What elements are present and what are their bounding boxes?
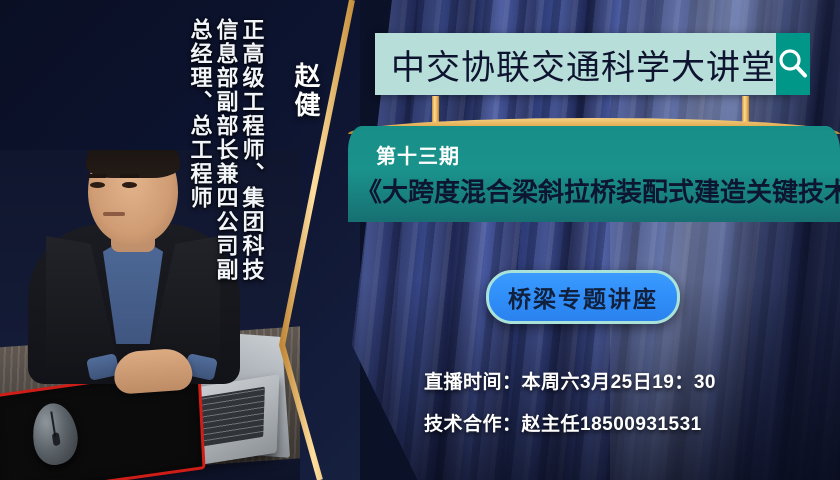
- credential-line-2: 信息部副部长兼四公司副: [214, 18, 236, 282]
- eye-left: [90, 182, 105, 188]
- topic-title: 《大跨度混合梁斜拉桥装配式建造关键技术》: [356, 172, 832, 209]
- topic-badge[interactable]: 桥梁专题讲座: [486, 270, 680, 324]
- main-title-banner: 中交协联交通科学大讲堂: [375, 33, 795, 95]
- search-icon[interactable]: [776, 33, 810, 95]
- speaker-panel: 正高级工程师、集团科技 信息部副部长兼四公司副 总经理、总工程师 赵健: [0, 0, 360, 480]
- topic-badge-label: 桥梁专题讲座: [508, 280, 658, 314]
- eyebrow-right: [120, 174, 139, 178]
- magnifier-glyph: [776, 47, 810, 81]
- subtitle-banner: 第十三期 《大跨度混合梁斜拉桥装配式建造关键技术》: [348, 126, 840, 222]
- live-stream-poster: 正高级工程师、集团科技 信息部副部长兼四公司副 总经理、总工程师 赵健 中交协联…: [0, 0, 840, 480]
- contact-info: 技术合作：赵主任18500931531: [424, 409, 702, 436]
- broadcast-time: 直播时间：本周六3月25日19：30: [424, 367, 716, 394]
- mouth: [103, 212, 125, 216]
- eyebrow-left: [88, 174, 107, 178]
- computer-mouse: [28, 398, 81, 469]
- mouse-wheel: [51, 432, 60, 446]
- page-title: 中交协联交通科学大讲堂: [375, 40, 776, 89]
- eye-right: [122, 182, 137, 188]
- credential-line-1: 正高级工程师、集团科技: [240, 18, 262, 282]
- speaker-name: 赵健: [288, 62, 325, 120]
- episode-label: 第十三期: [376, 140, 460, 169]
- credential-line-3: 总经理、总工程师: [188, 18, 210, 210]
